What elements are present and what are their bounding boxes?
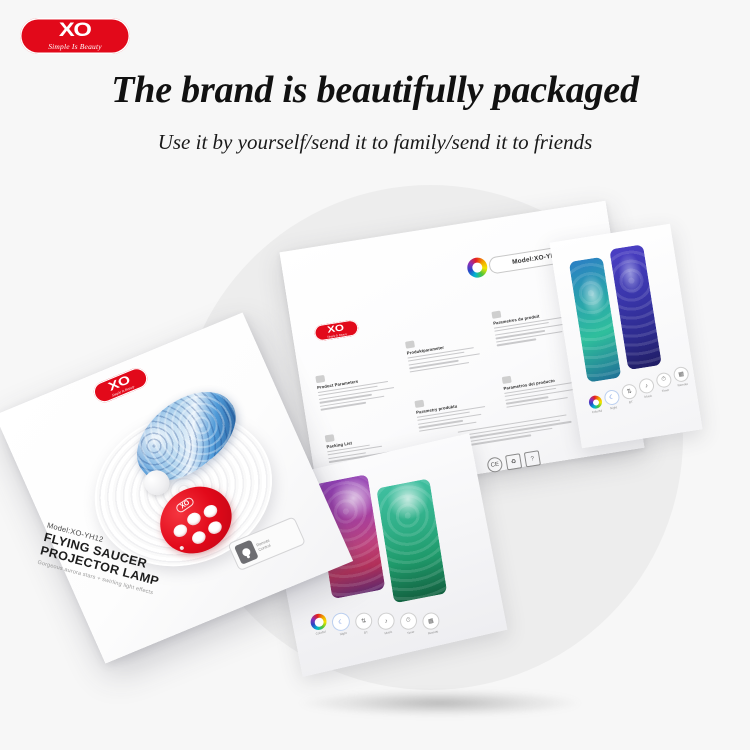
moon-icon: ☾ (603, 389, 620, 406)
feature-label: BT (629, 400, 633, 404)
feature-timer: ⏱ Timer (655, 372, 673, 394)
feature-night: ☾ Night (330, 611, 352, 638)
language-badge-icon (315, 375, 325, 383)
control-button (206, 519, 225, 537)
feature-remote: ▦ Remote (421, 611, 442, 636)
feature-icon-row: Colorful ☾ Night ⇅ BT ♪ Music ⏱ Timer ▦ … (588, 381, 693, 415)
language-badge-icon (502, 376, 512, 384)
feature-label: Music (644, 394, 652, 399)
weee-bin-icon: ♻ (505, 453, 522, 470)
feature-remote: ▦ Remote (673, 366, 691, 388)
timer-icon: ⏱ (399, 611, 419, 632)
music-note-icon: ♪ (376, 611, 396, 632)
feature-label: Colorful (315, 630, 326, 636)
spec-panel-logo: XO Simple Is Beauty (313, 319, 359, 342)
control-indicator-dot (179, 545, 185, 551)
brand-logo: XO Simple Is Beauty (20, 18, 130, 54)
feature-colorful: Colorful (309, 612, 329, 636)
language-badge-icon (491, 311, 501, 319)
spec-block-heading: Packing List (326, 431, 412, 449)
language-badge-icon (325, 434, 335, 442)
brand-logo-tagline: Simple Is Beauty (48, 42, 102, 51)
floor-shadow (300, 690, 580, 716)
remote-badge-text: Remote Control (255, 537, 272, 552)
control-pad-logo: XO (175, 496, 196, 514)
feature-bluetooth: ⇅ BT (621, 383, 639, 405)
control-button (185, 510, 204, 528)
control-button (171, 522, 190, 540)
rainbow-color-wheel-icon (466, 256, 489, 279)
bluetooth-icon: ⇅ (354, 611, 374, 632)
page-headline: The brand is beautifully packaged (0, 68, 750, 112)
spec-block-heading: Parametry produktu (416, 397, 502, 415)
control-button (190, 529, 209, 547)
feature-label: Timer (407, 630, 415, 635)
feature-music: ♪ Music (638, 377, 656, 399)
promo-stage: XO Simple Is Beauty The brand is beautif… (0, 0, 750, 750)
rohs-icon: ? (524, 450, 541, 467)
feature-night: ☾ Night (603, 389, 621, 411)
rainbow-color-wheel-icon (588, 395, 603, 410)
feature-label: Colorful (592, 409, 603, 414)
page-subheadline: Use it by yourself/send it to family/sen… (0, 130, 750, 155)
spec-block: Produktparameter (405, 328, 495, 374)
control-button (201, 502, 220, 520)
feature-colorful: Colorful (588, 395, 604, 415)
ce-mark-icon: CE (486, 456, 503, 473)
projection-photo-green (376, 478, 447, 603)
music-note-icon: ♪ (638, 377, 655, 394)
feature-label: BT (364, 631, 368, 635)
feature-label: Remote (428, 630, 439, 636)
feature-timer: ⏱ Timer (399, 611, 420, 636)
language-badge-icon (414, 400, 424, 408)
remote-icon: ▦ (673, 366, 690, 383)
feature-label: Timer (662, 388, 670, 393)
timer-icon: ⏱ (655, 372, 672, 389)
language-badge-icon (405, 340, 415, 348)
feature-label: Night (340, 631, 347, 636)
bluetooth-icon: ⇅ (621, 383, 638, 400)
feature-label: Remote (677, 382, 688, 387)
spec-block: Product Parameters (315, 363, 406, 413)
moon-icon: ☾ (330, 611, 351, 633)
brand-logo-mark: XO (59, 21, 91, 40)
front-panel-logo: XO Simple Is Beauty (90, 365, 150, 406)
feature-music: ♪ Music (376, 611, 397, 636)
feature-label: Night (610, 406, 617, 410)
feature-label: Music (384, 630, 392, 635)
feature-bluetooth: ⇅ BT (354, 611, 375, 636)
